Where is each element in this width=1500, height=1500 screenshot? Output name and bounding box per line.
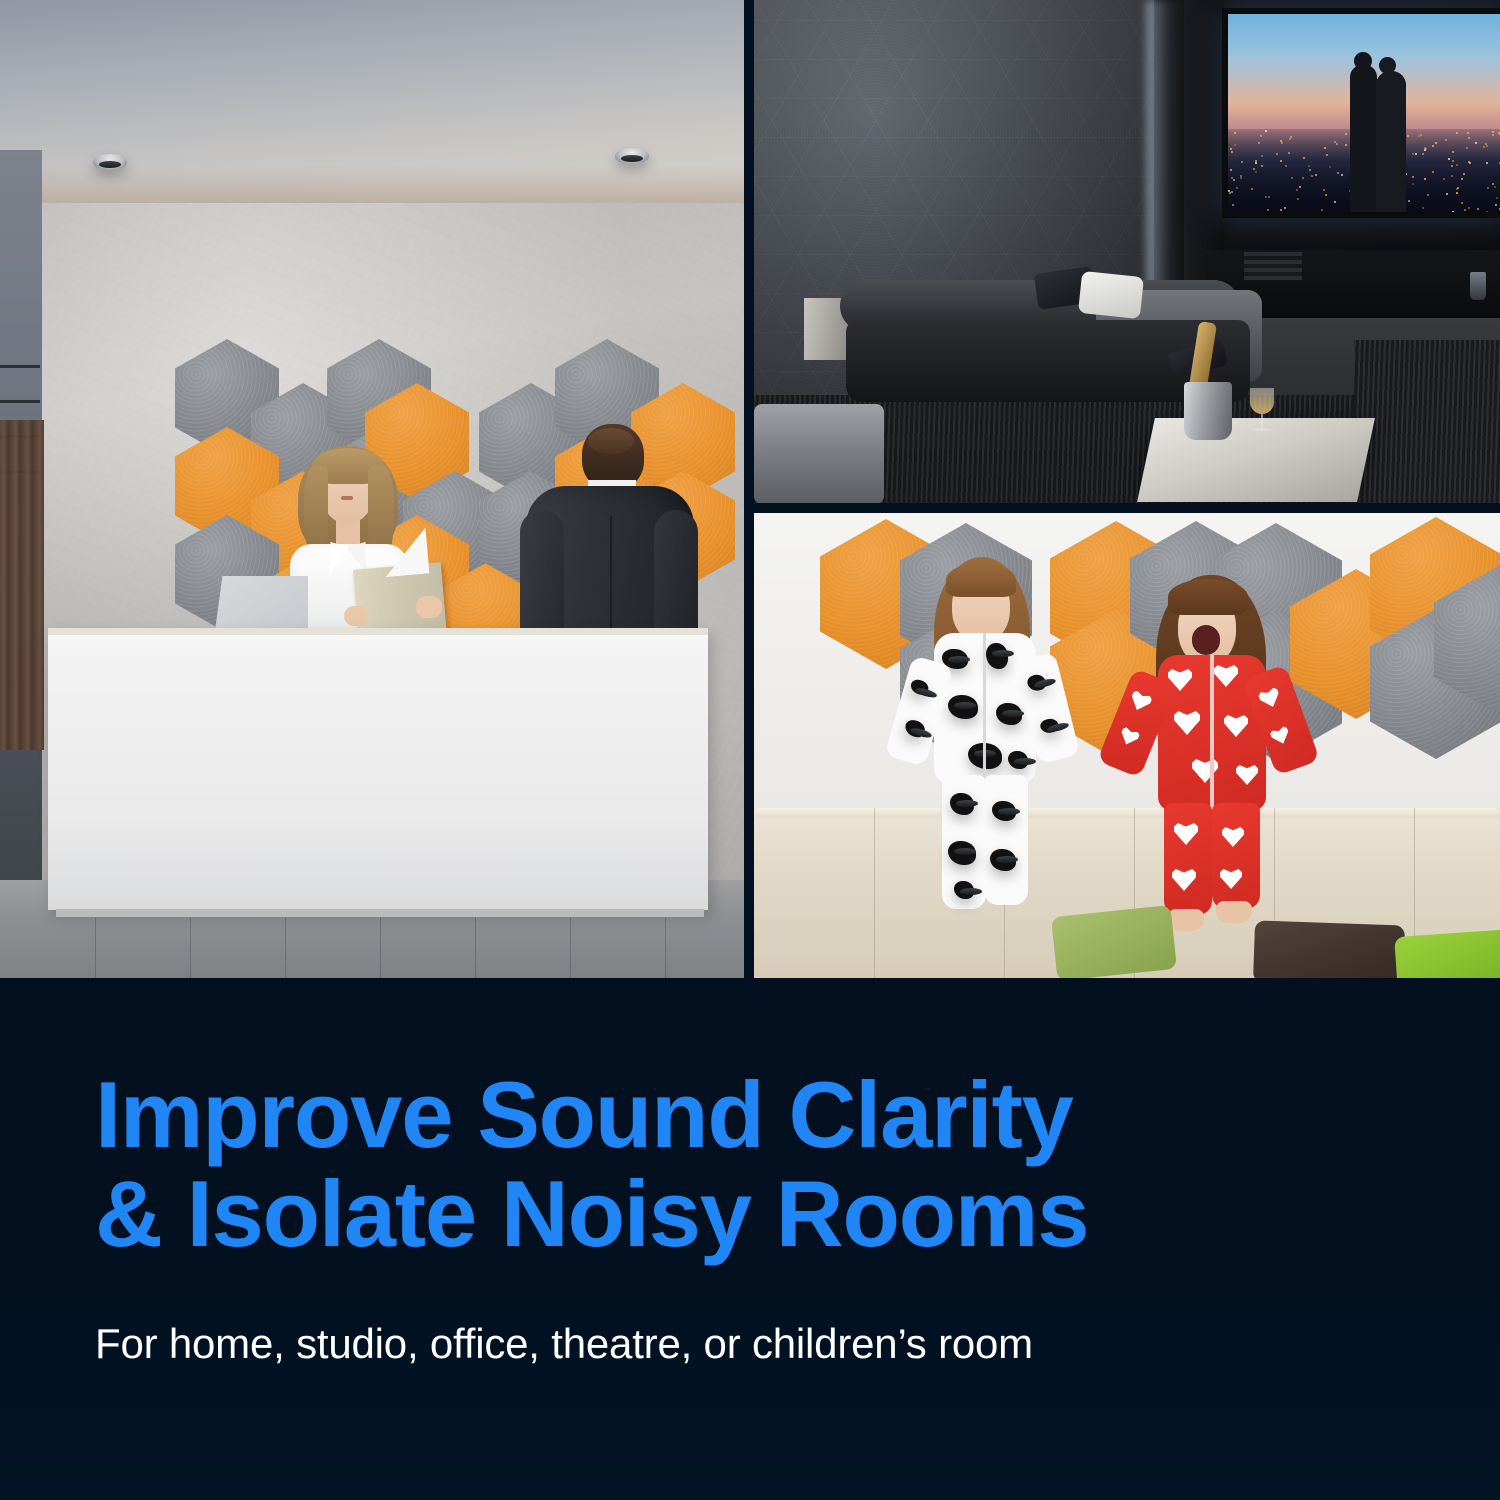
child-leg [1164, 803, 1212, 915]
projector-screen [1222, 8, 1500, 218]
couple-silhouette [1350, 65, 1406, 212]
cushion [1394, 929, 1500, 978]
ceiling-spotlight-icon [93, 154, 127, 170]
photo-children-room [754, 513, 1500, 978]
shag-rug [1354, 340, 1500, 503]
ice-bucket [1184, 382, 1232, 440]
cushion [1253, 920, 1405, 978]
photo-collage [0, 0, 1500, 978]
ottoman [754, 404, 884, 503]
reception-desk [48, 628, 708, 910]
photo-office-reception [0, 0, 744, 978]
headline-line-1: Improve Sound Clarity [95, 1066, 1415, 1165]
glass-vase [1470, 272, 1486, 300]
photo-home-theatre [754, 0, 1500, 503]
bare-foot [1168, 909, 1204, 931]
subheadline: For home, studio, office, theatre, or ch… [95, 1319, 1415, 1369]
ceiling [0, 0, 744, 205]
screen-image [1228, 14, 1500, 212]
cushion [1051, 905, 1177, 978]
hand [416, 596, 442, 618]
hand [344, 606, 368, 626]
cow-print-onesie [934, 633, 1036, 783]
child-heart-pyjamas [1106, 569, 1316, 919]
open-mouth [1192, 625, 1220, 655]
child-cow-pyjamas [890, 549, 1080, 909]
wood-slat-wall [0, 420, 44, 750]
cushion [1078, 271, 1144, 319]
wine-glass [1250, 388, 1274, 432]
child-leg [942, 775, 986, 909]
child-leg [984, 775, 1028, 905]
bare-foot [1216, 901, 1252, 923]
caption-panel: Improve Sound Clarity & Isolate Noisy Ro… [0, 978, 1500, 1500]
product-banner: Improve Sound Clarity & Isolate Noisy Ro… [0, 0, 1500, 1500]
child-leg [1212, 803, 1260, 909]
ceiling-spotlight-icon [615, 148, 649, 164]
headline-line-2: & Isolate Noisy Rooms [95, 1165, 1415, 1264]
